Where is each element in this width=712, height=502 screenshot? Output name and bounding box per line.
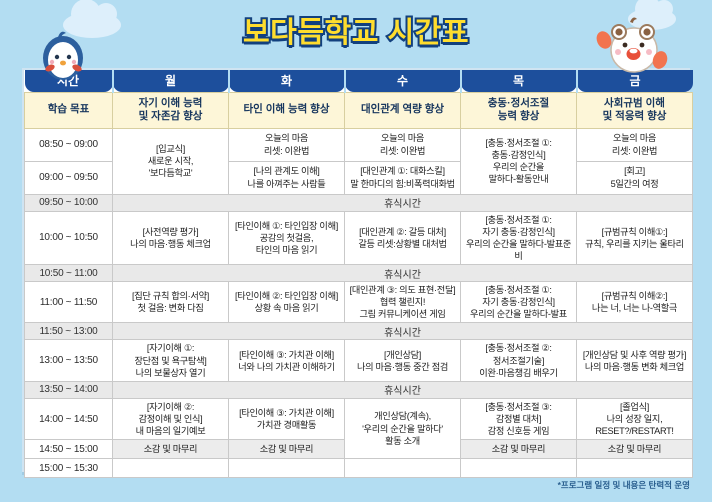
day-header-4: 목 — [461, 70, 577, 92]
time-label-7: 13:00 ~ 13:50 — [25, 340, 113, 381]
session-cell-r11-c1[interactable] — [229, 459, 345, 478]
session-cell-r7-c1[interactable]: [타인이해 ③: 가치관 이해]너와 나의 가치관 이해하기 — [229, 340, 345, 381]
last-row: 15:00 ~ 15:30 — [25, 459, 693, 478]
learning-goal-5: 사회규범 이해및 적응력 향상 — [577, 92, 693, 128]
break-label-6: 휴식시간 — [113, 323, 693, 340]
session-cell-r9-c4[interactable]: [졸업식]나의 성장 일지,RESET?/RESTART! — [577, 398, 693, 439]
session-row: 14:00 ~ 14:50[자기이해 ②:감정이해 및 인식]내 마음의 일기예… — [25, 398, 693, 439]
session-cell-r7-c0[interactable]: [자기이해 ①:장단점 및 욕구탐색]나의 보물상자 열기 — [113, 340, 229, 381]
session-cell-r11-c3[interactable] — [461, 459, 577, 478]
session-cell-r1-c4[interactable]: [회고]5일간의 여정 — [577, 161, 693, 194]
time-label-5: 11:00 ~ 11:50 — [25, 282, 113, 323]
session-cell-r10-c1[interactable]: 소감 및 마무리 — [229, 440, 345, 459]
session-cell-r7-c4[interactable]: [개인상담 및 사후 역량 평가]나의 마음·행동 변화 체크업 — [577, 340, 693, 381]
break-label-8: 휴식시간 — [113, 381, 693, 398]
session-cell-r3-c3[interactable]: [충동·정서조절 ①:자기 충동·감정인식]우리의 순간을 말하다-발표준비 — [461, 211, 577, 265]
time-label-3: 10:00 ~ 10:50 — [25, 211, 113, 265]
session-cell-r11-c4[interactable] — [577, 459, 693, 478]
learning-goal-2: 타인 이해 능력 향상 — [229, 92, 345, 128]
session-cell-r0-c3[interactable]: [충동·정서조절 ①:충동·감정인식]우리의 순간을말하다-활동안내 — [461, 128, 577, 194]
session-cell-r5-c1[interactable]: [타인이해 ②: 타인입장 이해]상황 속 마음 읽기 — [229, 282, 345, 323]
session-cell-r9-c2[interactable]: 개인상담(계속),'우리의 순간을 말하다'활동 소개 — [345, 398, 461, 458]
day-header-3: 수 — [345, 70, 461, 92]
time-label-10: 14:50 ~ 15:00 — [25, 440, 113, 459]
timetable-panel: 시간월화수목금학습 목표자기 이해 능력및 자존감 향상타인 이해 능력 향상대… — [22, 68, 690, 472]
session-cell-r11-c0[interactable] — [113, 459, 229, 478]
session-cell-r11-c2[interactable] — [345, 459, 461, 478]
time-label-0: 08:50 ~ 09:00 — [25, 128, 113, 161]
break-row: 11:50 ~ 13:00휴식시간 — [25, 323, 693, 340]
session-cell-r7-c2[interactable]: [개인상담]나의 마음·행동 중간 점검 — [345, 340, 461, 381]
time-label-4: 10:50 ~ 11:00 — [25, 265, 113, 282]
session-cell-r5-c4[interactable]: [규범규칙 이해②:]나는 너, 너는 나-역할극 — [577, 282, 693, 323]
time-label-6: 11:50 ~ 13:00 — [25, 323, 113, 340]
session-cell-r10-c3[interactable]: 소감 및 마무리 — [461, 440, 577, 459]
session-row: 11:00 ~ 11:50[집단 규칙 합의·서약]첫 걸음: 변화 다짐[타인… — [25, 282, 693, 323]
timetable: 시간월화수목금학습 목표자기 이해 능력및 자존감 향상타인 이해 능력 향상대… — [24, 70, 693, 478]
session-cell-r3-c4[interactable]: [규범규칙 이해①:]규칙, 우리를 지키는 울타리 — [577, 211, 693, 265]
session-cell-r1-c2[interactable]: [대인관계 ①: 대화스킬]말 한마디의 힘:비폭력대화법 — [345, 161, 461, 194]
session-cell-r0-c2[interactable]: 오늘의 마음리셋: 이완법 — [345, 128, 461, 161]
footer-note: *프로그램 일정 및 내용은 탄력적 운영 — [558, 479, 690, 491]
page-title-container: 보다듬학교 시간표 — [0, 9, 712, 51]
break-row: 13:50 ~ 14:00휴식시간 — [25, 381, 693, 398]
day-header-row: 시간월화수목금 — [25, 70, 693, 92]
session-cell-r10-c0[interactable]: 소감 및 마무리 — [113, 440, 229, 459]
session-cell-r9-c1[interactable]: [타인이해 ③: 가치관 이해]가치관 경매활동 — [229, 398, 345, 439]
break-label-2: 휴식시간 — [113, 194, 693, 211]
learning-goal-1: 자기 이해 능력및 자존감 향상 — [113, 92, 229, 128]
session-cell-r3-c0[interactable]: [사전역량 평가]나의 마음·행동 체크업 — [113, 211, 229, 265]
learning-goal-label: 학습 목표 — [25, 92, 113, 128]
page-title: 보다듬학교 시간표 — [243, 9, 469, 51]
session-cell-r0-c1[interactable]: 오늘의 마음리셋: 이완법 — [229, 128, 345, 161]
session-cell-r5-c0[interactable]: [집단 규칙 합의·서약]첫 걸음: 변화 다짐 — [113, 282, 229, 323]
time-label-2: 09:50 ~ 10:00 — [25, 194, 113, 211]
day-header-1: 월 — [113, 70, 229, 92]
time-label-11: 15:00 ~ 15:30 — [25, 459, 113, 478]
session-cell-r7-c3[interactable]: [충동·정서조절 ②:정서조절기술]이완·마음챙김 배우기 — [461, 340, 577, 381]
session-cell-r0-c0[interactable]: [입교식]새로운 시작,'보다듬학교' — [113, 128, 229, 194]
session-cell-r5-c3[interactable]: [충동·정서조절 ①:자기 충동·감정인식]우리의 순간을 말하다-발표 — [461, 282, 577, 323]
session-cell-r9-c0[interactable]: [자기이해 ②:감정이해 및 인식]내 마음의 일기예보 — [113, 398, 229, 439]
time-label-9: 14:00 ~ 14:50 — [25, 398, 113, 439]
session-row: 08:50 ~ 09:00[입교식]새로운 시작,'보다듬학교'오늘의 마음리셋… — [25, 128, 693, 161]
break-row: 10:50 ~ 11:00휴식시간 — [25, 265, 693, 282]
session-row: 10:00 ~ 10:50[사전역량 평가]나의 마음·행동 체크업[타인이해 … — [25, 211, 693, 265]
day-header-2: 화 — [229, 70, 345, 92]
break-label-4: 휴식시간 — [113, 265, 693, 282]
session-cell-r3-c1[interactable]: [타인이해 ①: 타인입장 이해]공감의 첫걸음,타인의 마음 읽기 — [229, 211, 345, 265]
time-label-1: 09:00 ~ 09:50 — [25, 161, 113, 194]
learning-goal-4: 충동·정서조절능력 향상 — [461, 92, 577, 128]
session-cell-r0-c4[interactable]: 오늘의 마음리셋: 이완법 — [577, 128, 693, 161]
session-cell-r10-c4[interactable]: 소감 및 마무리 — [577, 440, 693, 459]
session-cell-r9-c3[interactable]: [충동·정서조절 ③:감정별 대처]감정 신호등 게임 — [461, 398, 577, 439]
learning-goal-3: 대인관계 역량 향상 — [345, 92, 461, 128]
session-row: 13:00 ~ 13:50[자기이해 ①:장단점 및 욕구탐색]나의 보물상자 … — [25, 340, 693, 381]
time-label-8: 13:50 ~ 14:00 — [25, 381, 113, 398]
session-cell-r3-c2[interactable]: [대인관계 ②: 갈등 대처]갈등 리셋:상황별 대처법 — [345, 211, 461, 265]
session-cell-r5-c2[interactable]: [대인관계 ③: 의도 표현·전달]협력 챌린지!그림 커뮤니케이션 게임 — [345, 282, 461, 323]
learning-goal-row: 학습 목표자기 이해 능력및 자존감 향상타인 이해 능력 향상대인관계 역량 … — [25, 92, 693, 128]
session-cell-r1-c1[interactable]: [나의 관계도 이해]나를 아껴주는 사람들 — [229, 161, 345, 194]
break-row: 09:50 ~ 10:00휴식시간 — [25, 194, 693, 211]
